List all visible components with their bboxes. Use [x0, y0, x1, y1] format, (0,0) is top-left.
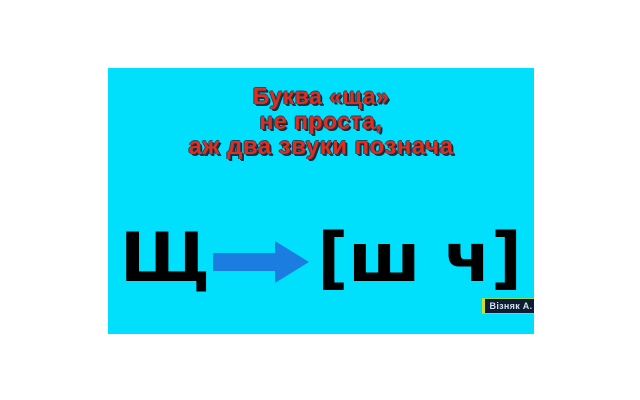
formula-row: Щ [ш ч]	[108, 216, 534, 302]
right-arrow-icon	[213, 239, 309, 285]
title-block: Буква «ща» не проста, аж два звуки позна…	[108, 84, 534, 159]
slide-stage: Буква «ща» не проста, аж два звуки позна…	[0, 0, 640, 400]
title-line-2: не проста,	[108, 109, 534, 134]
slide-panel: Буква «ща» не проста, аж два звуки позна…	[108, 68, 534, 334]
watermark-label: Візняк А. В	[490, 301, 534, 311]
watermark-badge: Візняк А. В	[482, 298, 534, 314]
title-line-1: Буква «ща»	[108, 84, 534, 109]
title-line-3: аж два звуки позначa	[108, 134, 534, 159]
formula-source-letter: Щ	[120, 225, 209, 293]
formula-result-transcription: [ш ч]	[317, 225, 522, 293]
